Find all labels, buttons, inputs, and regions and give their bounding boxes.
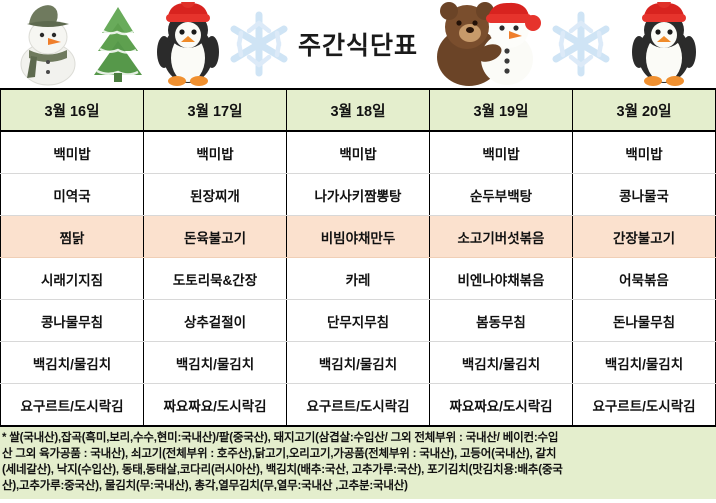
date-header-4: 3월 20일 bbox=[573, 89, 716, 131]
menu-cell: 짜요짜요/도시락김 bbox=[430, 384, 573, 427]
date-header-2: 3월 18일 bbox=[287, 89, 430, 131]
menu-cell: 요구르트/도시락김 bbox=[573, 384, 716, 427]
menu-cell: 돈나물무침 bbox=[573, 300, 716, 342]
origin-note: * 쌀(국내산),잡곡(흑미,보리,수수,현미:국내산)/팥(중국산), 돼지고… bbox=[0, 427, 716, 499]
menu-cell: 요구르트/도시락김 bbox=[287, 384, 430, 427]
menu-cell: 단무지무침 bbox=[287, 300, 430, 342]
menu-cell: 백미밥 bbox=[287, 131, 430, 174]
menu-cell: 백미밥 bbox=[430, 131, 573, 174]
menu-cell: 백김치/물김치 bbox=[144, 342, 287, 384]
page-title: 주간식단표 bbox=[0, 26, 716, 62]
menu-cell: 백김치/물김치 bbox=[1, 342, 144, 384]
menu-cell: 된장찌개 bbox=[144, 174, 287, 216]
menu-cell: 카레 bbox=[287, 258, 430, 300]
menu-cell: 시래기지짐 bbox=[1, 258, 144, 300]
menu-cell: 간장불고기 bbox=[573, 216, 716, 258]
menu-cell: 소고기버섯볶음 bbox=[430, 216, 573, 258]
table-row-side-2: 콩나물무침 상추겉절이 단무지무침 봄동무침 돈나물무침 bbox=[1, 300, 716, 342]
table-header-row: 3월 16일 3월 17일 3월 18일 3월 19일 3월 20일 bbox=[1, 89, 716, 131]
menu-cell: 짜요짜요/도시락김 bbox=[144, 384, 287, 427]
table-row-soup: 미역국 된장찌개 나가사키짬뽕탕 순두부백탕 콩나물국 bbox=[1, 174, 716, 216]
menu-cell: 백미밥 bbox=[573, 131, 716, 174]
origin-note-line: 산 그외 육가공품 : 국내산), 쇠고기(전체부위 : 호주산),닭고기,오리… bbox=[2, 446, 714, 462]
menu-cell: 비엔나야채볶음 bbox=[430, 258, 573, 300]
menu-cell: 찜닭 bbox=[1, 216, 144, 258]
menu-cell: 백미밥 bbox=[144, 131, 287, 174]
weekly-menu-page: 주간식단표 3월 16일 3월 17일 3월 18일 3월 19일 3월 20일… bbox=[0, 0, 716, 503]
menu-cell: 나가사키짬뽕탕 bbox=[287, 174, 430, 216]
origin-note-line: (세네갈산), 낙지(수입산), 동태,동태살,코다리(러시아산), 백김치(배… bbox=[2, 462, 714, 478]
menu-cell: 백김치/물김치 bbox=[287, 342, 430, 384]
menu-cell: 어묵볶음 bbox=[573, 258, 716, 300]
date-header-3: 3월 19일 bbox=[430, 89, 573, 131]
table-row-snack: 요구르트/도시락김 짜요짜요/도시락김 요구르트/도시락김 짜요짜요/도시락김 … bbox=[1, 384, 716, 427]
menu-cell: 백미밥 bbox=[1, 131, 144, 174]
table-row-rice: 백미밥 백미밥 백미밥 백미밥 백미밥 bbox=[1, 131, 716, 174]
origin-note-line: 산),고추가루:중국산), 물김치(무:국내산), 총각,열무김치(무,열무:국… bbox=[2, 478, 714, 494]
menu-cell: 도토리묵&간장 bbox=[144, 258, 287, 300]
menu-cell: 상추겉절이 bbox=[144, 300, 287, 342]
banner: 주간식단표 bbox=[0, 0, 716, 88]
menu-cell: 돈육불고기 bbox=[144, 216, 287, 258]
origin-note-line: * 쌀(국내산),잡곡(흑미,보리,수수,현미:국내산)/팥(중국산), 돼지고… bbox=[2, 430, 714, 446]
menu-cell: 순두부백탕 bbox=[430, 174, 573, 216]
menu-cell: 콩나물국 bbox=[573, 174, 716, 216]
menu-cell: 요구르트/도시락김 bbox=[1, 384, 144, 427]
weekly-menu-table: 3월 16일 3월 17일 3월 18일 3월 19일 3월 20일 백미밥 백… bbox=[0, 88, 716, 427]
menu-cell: 콩나물무침 bbox=[1, 300, 144, 342]
table-row-side-1: 시래기지짐 도토리묵&간장 카레 비엔나야채볶음 어묵볶음 bbox=[1, 258, 716, 300]
date-header-0: 3월 16일 bbox=[1, 89, 144, 131]
date-header-1: 3월 17일 bbox=[144, 89, 287, 131]
menu-cell: 백김치/물김치 bbox=[430, 342, 573, 384]
table-row-kimchi: 백김치/물김치 백김치/물김치 백김치/물김치 백김치/물김치 백김치/물김치 bbox=[1, 342, 716, 384]
menu-cell: 미역국 bbox=[1, 174, 144, 216]
menu-cell: 비빔야채만두 bbox=[287, 216, 430, 258]
menu-cell: 봄동무침 bbox=[430, 300, 573, 342]
menu-cell: 백김치/물김치 bbox=[573, 342, 716, 384]
table-row-main-dish: 찜닭 돈육불고기 비빔야채만두 소고기버섯볶음 간장불고기 bbox=[1, 216, 716, 258]
